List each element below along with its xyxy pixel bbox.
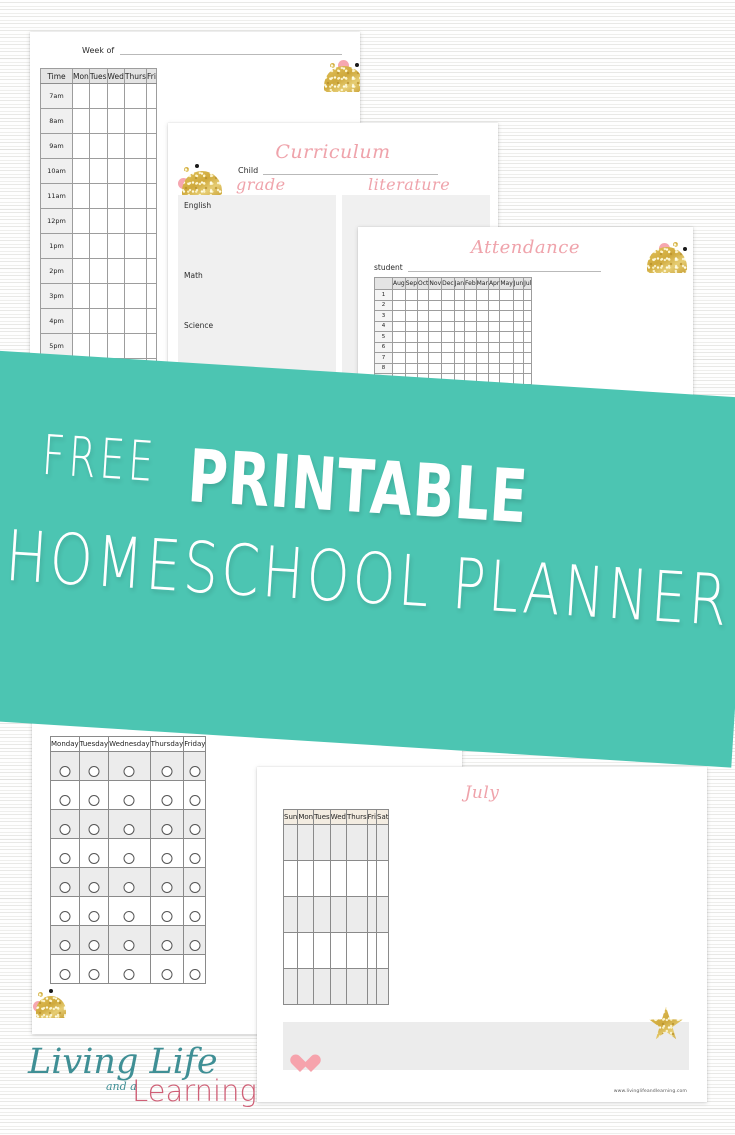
attendance-cell[interactable] (476, 311, 488, 322)
attendance-cell[interactable] (442, 290, 455, 301)
calendar-day-cell[interactable] (314, 861, 331, 897)
attendance-cell[interactable] (429, 363, 442, 374)
schedule-cell[interactable] (109, 752, 151, 781)
table-row (284, 897, 389, 933)
schedule-cell[interactable] (79, 926, 108, 955)
attendance-cell[interactable] (454, 311, 464, 322)
schedule-cell[interactable] (124, 234, 146, 259)
schedule-cell[interactable] (51, 926, 80, 955)
schedule-cell[interactable] (124, 259, 146, 284)
circle-checkbox-icon[interactable] (189, 766, 200, 777)
schedule-cell[interactable] (109, 897, 151, 926)
circle-checkbox-icon[interactable] (88, 911, 99, 922)
hedgehog-body-icon (647, 247, 687, 273)
calendar-day-cell[interactable] (284, 933, 298, 969)
table-row: 3 (375, 311, 532, 322)
attendance-cell[interactable] (393, 363, 406, 374)
attendance-cell[interactable] (442, 311, 455, 322)
schedule-cell[interactable] (51, 810, 80, 839)
schedule-cell[interactable] (107, 259, 124, 284)
time-label: 4pm (41, 309, 73, 334)
circle-checkbox-icon[interactable] (161, 795, 172, 806)
calendar-day-cell[interactable] (298, 969, 314, 1005)
schedule-cell[interactable] (107, 209, 124, 234)
curriculum-col-literature: literature (368, 175, 450, 194)
attendance-cell[interactable] (454, 342, 464, 353)
circle-checkbox-icon[interactable] (88, 940, 99, 951)
schedule-cell[interactable] (147, 234, 157, 259)
schedule-cell[interactable] (73, 259, 90, 284)
attendance-cell[interactable] (513, 342, 523, 353)
attendance-cell[interactable] (405, 342, 417, 353)
curriculum-title: Curriculum (168, 141, 498, 163)
calendar-day-cell[interactable] (330, 969, 346, 1005)
attendance-cell[interactable] (454, 332, 464, 343)
attendance-cell[interactable] (405, 321, 417, 332)
calendar-day-cell[interactable] (298, 897, 314, 933)
schedule-cell[interactable] (89, 84, 107, 109)
circle-checkbox-icon[interactable] (59, 882, 70, 893)
schedule-cell[interactable] (79, 810, 108, 839)
attendance-cell[interactable] (488, 332, 499, 343)
attendance-cell[interactable] (465, 332, 477, 343)
calendar-day-cell[interactable] (377, 897, 389, 933)
attendance-cell[interactable] (476, 363, 488, 374)
attendance-cell[interactable] (393, 353, 406, 364)
attendance-cell[interactable] (524, 342, 532, 353)
gold-dot-icon (38, 992, 43, 997)
calendar-day-cell[interactable] (367, 825, 376, 861)
attendance-cell[interactable] (405, 363, 417, 374)
attendance-cell[interactable] (488, 290, 499, 301)
schedule-cell[interactable] (150, 897, 184, 926)
table-row (51, 926, 206, 955)
schedule-cell[interactable] (147, 209, 157, 234)
schedule-cell[interactable] (51, 868, 80, 897)
attendance-cell[interactable] (454, 321, 464, 332)
circle-checkbox-icon[interactable] (88, 853, 99, 864)
schedule-cell[interactable] (109, 926, 151, 955)
attendance-cell[interactable] (524, 363, 532, 374)
circle-checkbox-icon[interactable] (124, 853, 135, 864)
calendar-day-cell[interactable] (284, 969, 298, 1005)
calendar-day-cell[interactable] (377, 969, 389, 1005)
schedule-cell[interactable] (150, 868, 184, 897)
attendance-cell[interactable] (418, 353, 429, 364)
circle-checkbox-icon[interactable] (59, 911, 70, 922)
attendance-cell[interactable] (405, 332, 417, 343)
circle-checkbox-icon[interactable] (88, 766, 99, 777)
circle-checkbox-icon[interactable] (161, 911, 172, 922)
attendance-cell[interactable] (524, 353, 532, 364)
schedule-cell[interactable] (51, 839, 80, 868)
attendance-cell[interactable] (429, 311, 442, 322)
attendance-cell[interactable] (524, 300, 532, 311)
circle-checkbox-icon[interactable] (88, 824, 99, 835)
circle-checkbox-icon[interactable] (161, 766, 172, 777)
attendance-cell[interactable] (500, 311, 513, 322)
col-header: Mon (73, 69, 90, 84)
attendance-cell[interactable] (513, 353, 523, 364)
schedule-cell[interactable] (73, 184, 90, 209)
schedule-cell[interactable] (79, 955, 108, 984)
attendance-cell[interactable] (500, 321, 513, 332)
schedule-cell[interactable] (124, 109, 146, 134)
schedule-cell[interactable] (73, 209, 90, 234)
circle-checkbox-icon[interactable] (189, 969, 200, 980)
time-label: 10am (41, 159, 73, 184)
calendar-day-cell[interactable] (346, 861, 367, 897)
attendance-cell[interactable] (405, 300, 417, 311)
calendar-day-cell[interactable] (330, 825, 346, 861)
attendance-cell[interactable] (465, 363, 477, 374)
schedule-cell[interactable] (89, 184, 107, 209)
schedule-cell[interactable] (51, 897, 80, 926)
circle-checkbox-icon[interactable] (189, 853, 200, 864)
attendance-cell[interactable] (524, 311, 532, 322)
circle-checkbox-icon[interactable] (124, 795, 135, 806)
circle-checkbox-icon[interactable] (124, 969, 135, 980)
schedule-cell[interactable] (147, 334, 157, 359)
circle-checkbox-icon[interactable] (124, 940, 135, 951)
attendance-cell[interactable] (476, 321, 488, 332)
schedule-cell[interactable] (89, 109, 107, 134)
attendance-cell[interactable] (418, 290, 429, 301)
attendance-cell[interactable] (465, 342, 477, 353)
schedule-cell[interactable] (147, 259, 157, 284)
attendance-cell[interactable] (488, 321, 499, 332)
schedule-cell[interactable] (124, 184, 146, 209)
attendance-cell[interactable] (442, 342, 455, 353)
circle-checkbox-icon[interactable] (59, 969, 70, 980)
calendar-day-cell[interactable] (346, 969, 367, 1005)
schedule-cell[interactable] (150, 926, 184, 955)
circle-checkbox-icon[interactable] (88, 882, 99, 893)
circle-checkbox-icon[interactable] (59, 766, 70, 777)
calendar-day-cell[interactable] (330, 933, 346, 969)
schedule-cell[interactable] (51, 781, 80, 810)
calendar-day-cell[interactable] (298, 861, 314, 897)
schedule-cell[interactable] (73, 134, 90, 159)
attendance-cell[interactable] (442, 332, 455, 343)
schedule-cell[interactable] (109, 810, 151, 839)
attendance-cell[interactable] (442, 363, 455, 374)
schedule-cell[interactable] (89, 209, 107, 234)
attendance-cell[interactable] (476, 332, 488, 343)
schedule-cell[interactable] (73, 159, 90, 184)
schedule-cell[interactable] (107, 159, 124, 184)
circle-checkbox-icon[interactable] (59, 795, 70, 806)
schedule-cell[interactable] (150, 781, 184, 810)
table-row (284, 933, 389, 969)
attendance-cell[interactable] (488, 353, 499, 364)
week-of-label: Week of (82, 46, 114, 55)
circle-checkbox-icon[interactable] (161, 853, 172, 864)
schedule-cell[interactable] (147, 184, 157, 209)
schedule-cell[interactable] (124, 159, 146, 184)
schedule-cell[interactable] (89, 159, 107, 184)
attendance-cell[interactable] (454, 353, 464, 364)
schedule-cell[interactable] (184, 926, 206, 955)
calendar-day-cell[interactable] (284, 861, 298, 897)
schedule-cell[interactable] (73, 284, 90, 309)
attendance-cell[interactable] (393, 332, 406, 343)
calendar-day-cell[interactable] (367, 969, 376, 1005)
attendance-cell[interactable] (476, 290, 488, 301)
circle-checkbox-icon[interactable] (124, 911, 135, 922)
schedule-cell[interactable] (184, 897, 206, 926)
calendar-day-cell[interactable] (367, 861, 376, 897)
schedule-cell[interactable] (147, 284, 157, 309)
calendar-day-cell[interactable] (298, 825, 314, 861)
schedule-cell[interactable] (109, 781, 151, 810)
schedule-cell[interactable] (150, 752, 184, 781)
calendar-day-cell[interactable] (284, 825, 298, 861)
attendance-cell[interactable] (442, 300, 455, 311)
attendance-cell[interactable] (454, 300, 464, 311)
calendar-day-cell[interactable] (346, 933, 367, 969)
calendar-day-cell[interactable] (346, 897, 367, 933)
schedule-cell[interactable] (150, 839, 184, 868)
attendance-cell[interactable] (500, 342, 513, 353)
attendance-cell[interactable] (524, 374, 532, 385)
schedule-cell[interactable] (107, 84, 124, 109)
attendance-cell[interactable] (465, 321, 477, 332)
schedule-cell[interactable] (124, 84, 146, 109)
schedule-cell[interactable] (184, 781, 206, 810)
calendar-day-cell[interactable] (298, 933, 314, 969)
table-row: 11am (41, 184, 157, 209)
schedule-cell[interactable] (184, 955, 206, 984)
circle-checkbox-icon[interactable] (161, 940, 172, 951)
attendance-cell[interactable] (524, 332, 532, 343)
attendance-cell[interactable] (429, 290, 442, 301)
schedule-cell[interactable] (150, 955, 184, 984)
attendance-cell[interactable] (418, 300, 429, 311)
circle-checkbox-icon[interactable] (189, 824, 200, 835)
attendance-cell[interactable] (513, 363, 523, 374)
col-header-month: Apr (488, 278, 499, 290)
attendance-cell[interactable] (488, 300, 499, 311)
attendance-cell[interactable] (418, 321, 429, 332)
attendance-cell[interactable] (465, 290, 477, 301)
attendance-cell[interactable] (524, 290, 532, 301)
time-label: 8am (41, 109, 73, 134)
table-header-row: MondayTuesdayWednesdayThursdayFriday (51, 737, 206, 752)
schedule-cell[interactable] (124, 284, 146, 309)
attendance-cell[interactable] (488, 342, 499, 353)
schedule-cell[interactable] (89, 259, 107, 284)
schedule-cell[interactable] (109, 839, 151, 868)
attendance-cell[interactable] (393, 290, 406, 301)
attendance-cell[interactable] (454, 363, 464, 374)
circle-checkbox-icon[interactable] (161, 969, 172, 980)
calendar-day-cell[interactable] (314, 825, 331, 861)
attendance-cell[interactable] (465, 353, 477, 364)
schedule-cell[interactable] (184, 752, 206, 781)
schedule-cell[interactable] (89, 334, 107, 359)
attendance-cell[interactable] (500, 300, 513, 311)
calendar-day-cell[interactable] (367, 897, 376, 933)
schedule-cell[interactable] (107, 334, 124, 359)
calendar-day-cell[interactable] (377, 861, 389, 897)
schedule-cell[interactable] (73, 234, 90, 259)
table-row: 6 (375, 342, 532, 353)
schedule-cell[interactable] (147, 309, 157, 334)
circle-checkbox-icon[interactable] (189, 940, 200, 951)
calendar-day-cell[interactable] (330, 861, 346, 897)
poster-canvas: Week of Time Mon Tues Wed Thurs Fri 7a (0, 0, 735, 1135)
attendance-cell[interactable] (418, 342, 429, 353)
schedule-cell[interactable] (184, 839, 206, 868)
calendar-day-cell[interactable] (330, 897, 346, 933)
black-dot-icon (355, 63, 359, 67)
attendance-cell[interactable] (513, 290, 523, 301)
schedule-cell[interactable] (107, 284, 124, 309)
schedule-cell[interactable] (73, 84, 90, 109)
schedule-cell[interactable] (109, 868, 151, 897)
attendance-cell[interactable] (500, 290, 513, 301)
subject-label: Math (184, 271, 203, 280)
circle-checkbox-icon[interactable] (59, 853, 70, 864)
circle-checkbox-icon[interactable] (189, 882, 200, 893)
col-header: Time (41, 69, 73, 84)
circle-checkbox-icon[interactable] (124, 766, 135, 777)
attendance-cell[interactable] (524, 321, 532, 332)
attendance-cell[interactable] (488, 363, 499, 374)
attendance-cell[interactable] (393, 300, 406, 311)
circle-checkbox-icon[interactable] (59, 824, 70, 835)
schedule-cell[interactable] (79, 781, 108, 810)
calendar-day-cell[interactable] (284, 897, 298, 933)
attendance-cell[interactable] (513, 300, 523, 311)
circle-checkbox-icon[interactable] (59, 940, 70, 951)
attendance-cell[interactable] (405, 290, 417, 301)
attendance-cell[interactable] (476, 300, 488, 311)
child-name-row: Child (238, 166, 438, 175)
schedule-cell[interactable] (184, 810, 206, 839)
attendance-cell[interactable] (500, 332, 513, 343)
circle-checkbox-icon[interactable] (189, 795, 200, 806)
july-calendar-table: SunMonTuesWedThursFriSat (283, 809, 389, 1005)
schedule-cell[interactable] (147, 134, 157, 159)
attendance-cell[interactable] (429, 321, 442, 332)
attendance-cell[interactable] (488, 311, 499, 322)
schedule-cell[interactable] (79, 897, 108, 926)
schedule-cell[interactable] (124, 309, 146, 334)
schedule-cell[interactable] (107, 134, 124, 159)
calendar-day-cell[interactable] (377, 825, 389, 861)
schedule-cell[interactable] (107, 234, 124, 259)
child-writing-line (263, 166, 438, 175)
attendance-cell[interactable] (405, 311, 417, 322)
schedule-cell[interactable] (150, 810, 184, 839)
schedule-cell[interactable] (89, 234, 107, 259)
attendance-cell[interactable] (465, 300, 477, 311)
attendance-cell[interactable] (393, 311, 406, 322)
attendance-cell[interactable] (465, 311, 477, 322)
attendance-cell[interactable] (513, 332, 523, 343)
schedule-cell[interactable] (107, 184, 124, 209)
attendance-cell[interactable] (418, 332, 429, 343)
circle-checkbox-icon[interactable] (88, 795, 99, 806)
schedule-cell[interactable] (51, 752, 80, 781)
attendance-cell[interactable] (513, 321, 523, 332)
schedule-cell[interactable] (89, 284, 107, 309)
calendar-day-cell[interactable] (367, 933, 376, 969)
schedule-cell[interactable] (124, 209, 146, 234)
calendar-day-cell[interactable] (377, 933, 389, 969)
schedule-cell[interactable] (107, 309, 124, 334)
attendance-cell[interactable] (442, 353, 455, 364)
brand-learning: Learning (132, 1074, 257, 1108)
schedule-cell[interactable] (124, 334, 146, 359)
attendance-cell[interactable] (393, 342, 406, 353)
schedule-cell[interactable] (51, 955, 80, 984)
attendance-cell[interactable] (418, 311, 429, 322)
circle-checkbox-icon[interactable] (88, 969, 99, 980)
row-number: 4 (375, 321, 393, 332)
col-header-day: Tues (314, 810, 331, 825)
attendance-cell[interactable] (429, 332, 442, 343)
schedule-cell[interactable] (79, 839, 108, 868)
calendar-day-cell[interactable] (314, 969, 331, 1005)
attendance-cell[interactable] (476, 342, 488, 353)
schedule-cell[interactable] (107, 109, 124, 134)
schedule-cell[interactable] (147, 84, 157, 109)
attendance-cell[interactable] (429, 353, 442, 364)
calendar-day-cell[interactable] (314, 933, 331, 969)
calendar-day-cell[interactable] (346, 825, 367, 861)
schedule-cell[interactable] (147, 159, 157, 184)
calendar-day-cell[interactable] (314, 897, 331, 933)
schedule-cell[interactable] (89, 134, 107, 159)
attendance-cell[interactable] (442, 321, 455, 332)
schedule-cell[interactable] (147, 109, 157, 134)
attendance-cell[interactable] (454, 290, 464, 301)
schedule-cell[interactable] (109, 955, 151, 984)
attendance-cell[interactable] (405, 353, 417, 364)
black-dot-icon (49, 989, 53, 993)
table-row (284, 825, 389, 861)
table-row (51, 868, 206, 897)
attendance-cell[interactable] (429, 342, 442, 353)
hedgehog-body-icon (182, 171, 222, 197)
attendance-cell[interactable] (418, 363, 429, 374)
attendance-cell[interactable] (429, 300, 442, 311)
attendance-cell[interactable] (393, 321, 406, 332)
schedule-cell[interactable] (89, 309, 107, 334)
schedule-cell[interactable] (184, 868, 206, 897)
schedule-cell[interactable] (124, 134, 146, 159)
attendance-cell[interactable] (513, 311, 523, 322)
schedule-cell[interactable] (73, 109, 90, 134)
circle-checkbox-icon[interactable] (189, 911, 200, 922)
weekly-planner-table: Time Mon Tues Wed Thurs Fri 7am8am9am10a… (40, 68, 157, 384)
circle-checkbox-icon[interactable] (124, 882, 135, 893)
attendance-cell[interactable] (476, 353, 488, 364)
table-row (51, 897, 206, 926)
table-row: 7am (41, 84, 157, 109)
circle-checkbox-icon[interactable] (161, 882, 172, 893)
circle-checkbox-icon[interactable] (124, 824, 135, 835)
attendance-cell[interactable] (500, 353, 513, 364)
circle-checkbox-icon[interactable] (161, 824, 172, 835)
schedule-cell[interactable] (79, 752, 108, 781)
schedule-cell[interactable] (73, 309, 90, 334)
attendance-cell[interactable] (500, 363, 513, 374)
schedule-cell[interactable] (79, 868, 108, 897)
